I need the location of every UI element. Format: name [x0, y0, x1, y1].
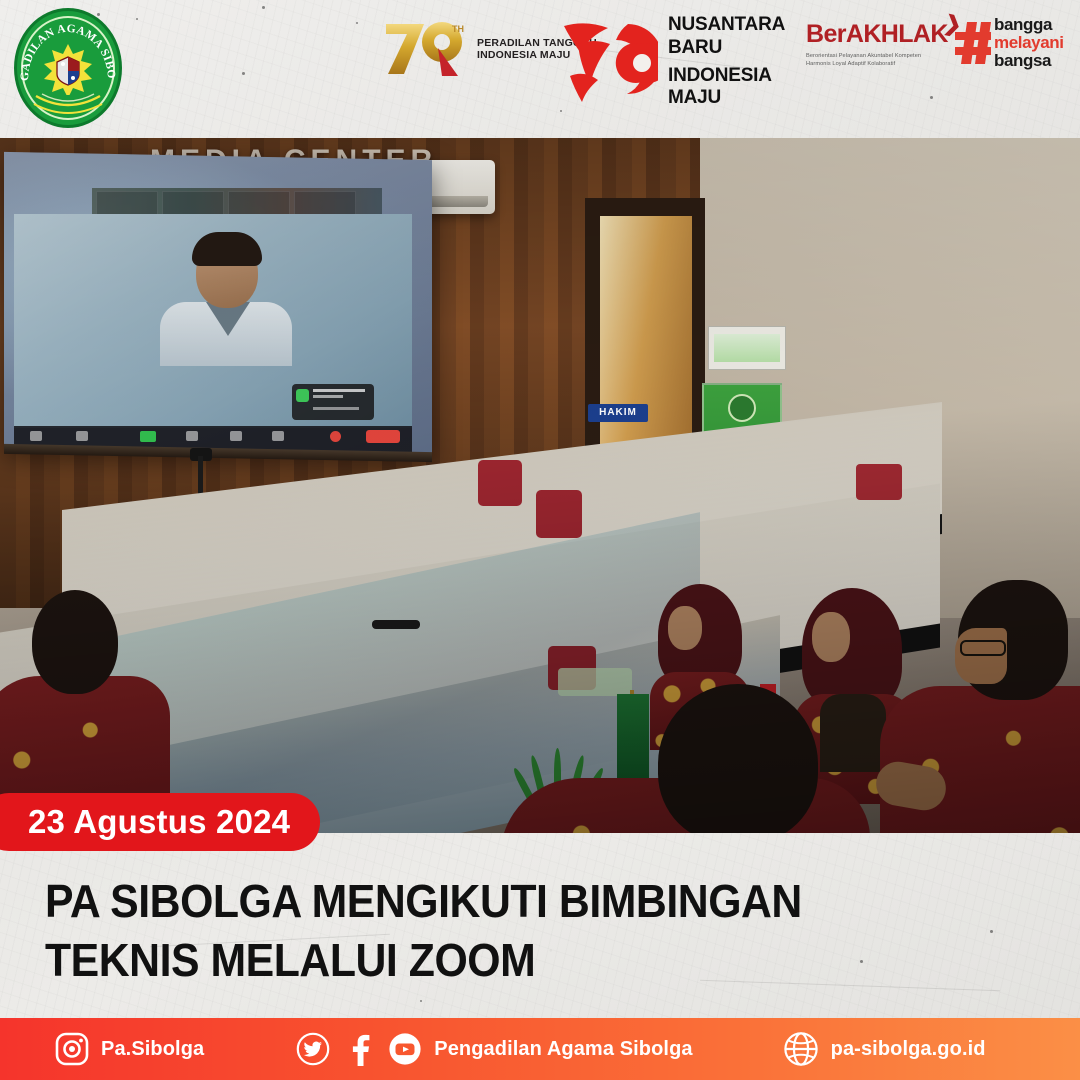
footer-website-group[interactable]: pa-sibolga.go.id	[783, 1031, 986, 1067]
bangga-line1: bangga	[994, 16, 1064, 34]
poster-title-line2: TEKNIS MELALUI ZOOM	[45, 931, 975, 990]
seal-wreath	[32, 92, 104, 118]
youtube-icon[interactable]	[388, 1032, 422, 1066]
footer-instagram-group[interactable]: Pa.Sibolga	[55, 1032, 204, 1066]
berakhlak-part2: AKHLAK	[846, 20, 948, 48]
footer-social-group[interactable]: Pengadilan Agama Sibolga	[296, 1032, 692, 1066]
photo-vignette	[0, 138, 1080, 833]
tagline-line4: MAJU	[668, 87, 785, 110]
berakhlak-wordmark: BerAKHLAK ❯	[806, 20, 948, 49]
date-badge-label: 23 Agustus 2024	[28, 803, 290, 841]
social-media-poster: PENGADILAN AGAMA SIBOLGA	[0, 0, 1080, 1080]
hashtag-icon	[955, 20, 991, 66]
logo-bangga-melayani-bangsa: bangga melayani bangsa	[955, 16, 1064, 71]
79-red-tagline: NUSANTARA BARU INDONESIA MAJU	[668, 14, 785, 110]
logo-hut-ri-79-nusantara: NUSANTARA BARU INDONESIA MAJU	[556, 14, 785, 110]
seal-star-emblem	[42, 43, 94, 95]
website-url[interactable]: pa-sibolga.go.id	[831, 1038, 986, 1061]
texture-speck	[420, 1000, 422, 1002]
bangga-line2: melayani	[994, 34, 1064, 52]
facebook-youtube-handle[interactable]: Pengadilan Agama Sibolga	[434, 1038, 692, 1061]
logo-berakhlak: BerAKHLAK ❯ Berorientasi Pelayanan Akunt…	[806, 20, 948, 69]
instagram-handle[interactable]: Pa.Sibolga	[101, 1038, 204, 1061]
poster-title: PA SIBOLGA MENGIKUTI BIMBINGAN TEKNIS ME…	[45, 872, 1045, 990]
twitter-icon[interactable]	[296, 1032, 330, 1066]
tagline-line2: BARU	[668, 37, 785, 60]
instagram-icon[interactable]	[55, 1032, 89, 1066]
tagline-line3: INDONESIA	[668, 65, 785, 88]
tagline-line1: NUSANTARA	[668, 14, 785, 37]
date-badge: 23 Agustus 2024	[0, 793, 320, 851]
svg-text:TH: TH	[452, 24, 464, 34]
event-photo: MEDIA CENTER HAKIM	[0, 138, 1080, 833]
79-red-mark	[556, 18, 658, 106]
bangga-wordmark: bangga melayani bangsa	[994, 16, 1064, 71]
footer-contact-bar: Pa.Sibolga Pengadilan Agama Sibolga	[0, 1018, 1080, 1080]
berakhlak-subtitle-line1: Berorientasi Pelayanan Akuntabel Kompete…	[806, 52, 936, 60]
berakhlak-subtitle-line2: Harmonis Loyal Adaptif Kolaboratif	[806, 60, 936, 68]
pengadilan-agama-sibolga-seal: PENGADILAN AGAMA SIBOLGA	[14, 8, 122, 128]
bangga-line3: bangsa	[994, 52, 1064, 70]
globe-icon[interactable]	[783, 1031, 819, 1067]
poster-title-line1: PA SIBOLGA MENGIKUTI BIMBINGAN	[45, 872, 975, 931]
berakhlak-part1: Ber	[806, 20, 846, 48]
79-gold-mark: TH	[380, 18, 472, 80]
header-logo-bar: PENGADILAN AGAMA SIBOLGA	[0, 0, 1080, 138]
berakhlak-subtitle: Berorientasi Pelayanan Akuntabel Kompete…	[806, 52, 936, 69]
facebook-icon[interactable]	[344, 1032, 374, 1066]
